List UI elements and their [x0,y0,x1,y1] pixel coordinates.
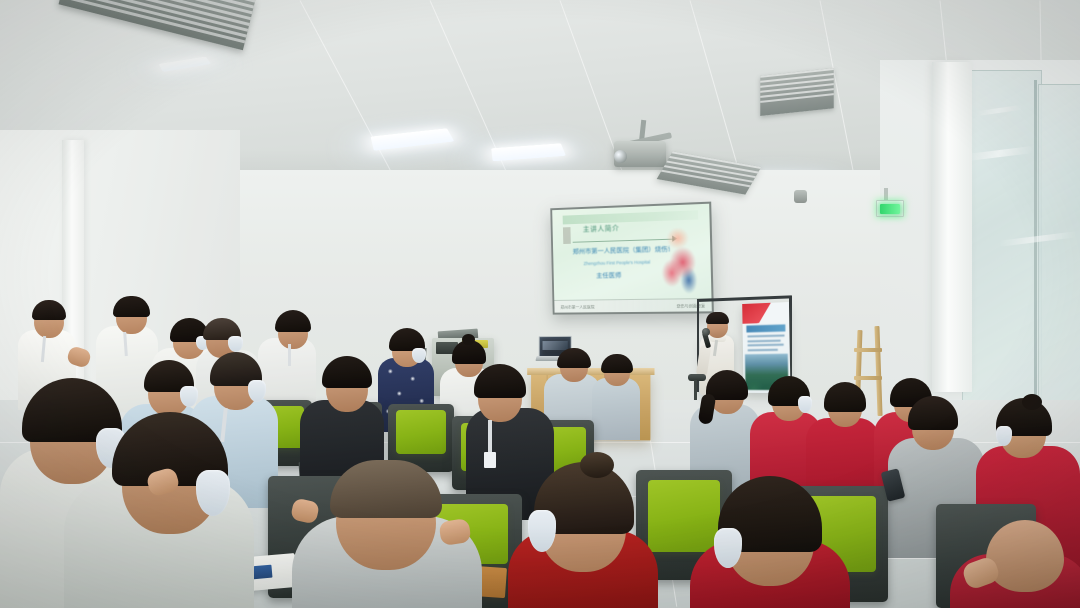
stool-leg [694,380,697,400]
banner-heading [746,324,785,332]
id-badge [484,452,496,468]
attendee-lanyard [488,420,492,454]
glass-partition-wall [1038,84,1080,406]
easel-crossbar [854,348,882,352]
stool [688,374,706,381]
seminar-room-photo: 主讲人简介 郑州市第一人民医院（集团）烧伤诊疗中心 Zhengzhou Firs… [0,0,1080,608]
easel-crossbar [854,376,882,380]
presenter-hair [706,312,729,324]
slide-footer-right: 烧伤与创面修复 [677,304,706,310]
slide-header-bar [563,211,698,225]
microphone-head-icon [702,328,710,336]
chair-backrest [396,410,446,454]
structural-pillar [932,62,972,392]
slide-footer-left: 郑州市第一人民医院 [560,305,594,311]
projector-lens-icon [614,150,627,163]
lectern-top-surface [527,368,654,375]
slide-body-line-3: 主任医师 [596,271,659,280]
attendee-body [592,378,640,440]
attendee-lanyard [288,344,291,366]
hair-bun [462,334,475,345]
hair-bun [580,452,614,478]
projection-screen: 主讲人简介 郑州市第一人民医院（集团）烧伤诊疗中心 Zhengzhou Firs… [550,202,714,315]
slide-accent-block [563,227,571,244]
ceiling-speaker-icon [794,190,807,203]
attendee-head [986,520,1064,592]
projected-slide: 主讲人简介 郑州市第一人民医院（集团）烧伤诊疗中心 Zhengzhou Firs… [552,204,712,313]
ceiling-vent-icon [760,68,834,116]
hair-bun [1022,394,1042,410]
emergency-exit-sign [876,200,904,217]
banner-red-header [742,302,789,324]
slide-body-line-2: Zhengzhou First People's Hospital [584,259,659,267]
chair-backrest [648,480,720,552]
slide-illustration [651,225,708,301]
